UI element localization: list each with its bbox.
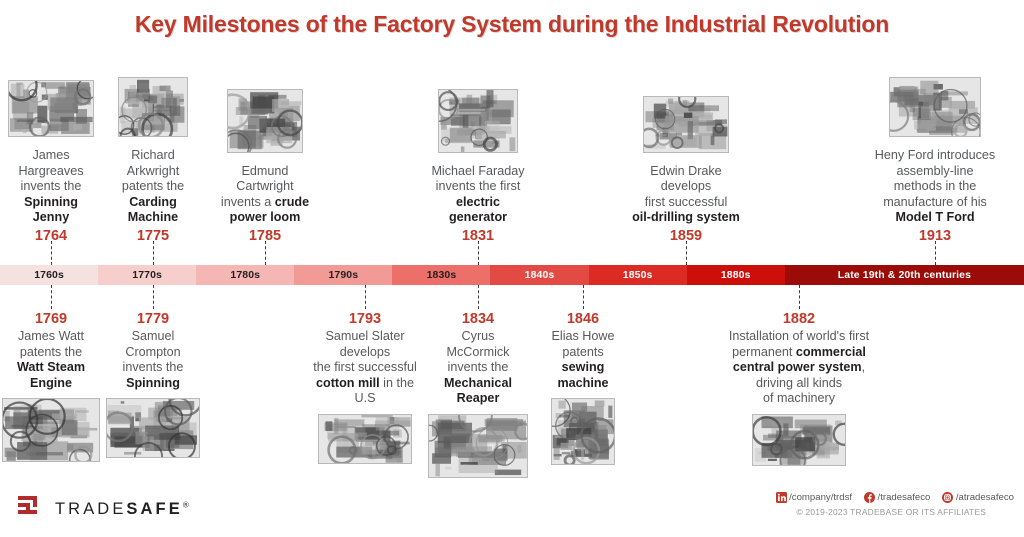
event-year: 1779 — [103, 310, 203, 329]
band-segment-1880s: 1880s — [687, 265, 785, 285]
event-description: Elias Howepatentssewingmachine — [533, 329, 633, 391]
event-line: machine — [533, 376, 633, 392]
connector-stem — [799, 285, 800, 309]
event-top-1775: RichardArkwrightpatents theCardingMachin… — [103, 77, 203, 246]
band-segment-label: 1830s — [427, 269, 457, 281]
event-line: Richard — [103, 148, 203, 164]
event-line: U.S — [291, 391, 439, 407]
event-line: assembly-line — [850, 164, 1020, 180]
event-line: McCormick — [426, 345, 530, 361]
event-line: Engine — [0, 376, 103, 392]
assembly-line-photo — [889, 77, 981, 137]
event-line: Heny Ford introduces — [850, 148, 1020, 164]
event-line: develops — [611, 179, 761, 195]
event-line: Michael Faraday — [410, 164, 546, 180]
event-line: patents the — [0, 345, 103, 361]
event-line: Carding — [103, 195, 203, 211]
event-year: 1793 — [291, 310, 439, 329]
event-top-1764: JamesHargreavesinvents theSpinningJenny1… — [0, 80, 103, 246]
connector-stem — [153, 241, 154, 265]
band-segment-label: Late 19th & 20th centuries — [838, 269, 971, 281]
social-link-instagram[interactable]: /atradesafeco — [942, 492, 1014, 503]
event-bottom-1769: 1769James Wattpatents theWatt SteamEngin… — [0, 309, 103, 467]
event-description: Edwin Drakedevelopsfirst successfuloil-d… — [611, 164, 761, 226]
social-row: /company/trdsf/tradesafeco/atradesafeco — [769, 492, 1014, 503]
band-segment-1840s: 1840s — [490, 265, 588, 285]
event-top-1913: Heny Ford introducesassembly-linemethods… — [850, 77, 1020, 246]
page-title: Key Milestones of the Factory System dur… — [0, 0, 1024, 43]
event-line: invents the — [103, 360, 203, 376]
event-line: driving all kinds — [704, 376, 894, 392]
band-segment-label: 1780s — [230, 269, 260, 281]
connector-stem — [935, 241, 936, 265]
mechanical-reaper-engraving — [428, 414, 528, 478]
social-handle: /atradesafeco — [956, 492, 1014, 503]
event-top-1785: EdmundCartwrightinvents a crudepower loo… — [210, 89, 320, 246]
event-line: cotton mill in the — [291, 376, 439, 392]
facebook-icon — [864, 492, 875, 503]
connector-stem — [265, 241, 266, 265]
connector-stem — [51, 241, 52, 265]
event-description: JamesHargreavesinvents theSpinningJenny — [0, 148, 103, 226]
event-line: invents the first — [410, 179, 546, 195]
logo-registered-mark: ® — [183, 501, 189, 510]
event-line: the first successful — [291, 360, 439, 376]
event-line: central power system, — [704, 360, 894, 376]
power-loom-engraving — [227, 89, 303, 153]
copyright-text: © 2019-2023 TRADEBASE OR ITS AFFILIATES — [769, 507, 1014, 517]
event-line: Model T Ford — [850, 210, 1020, 226]
social-link-linkedin[interactable]: /company/trdsf — [776, 492, 852, 503]
event-line: Samuel Slater — [291, 329, 439, 345]
timeline-canvas: 1760s1770s1780s1790s1830s1840s1850s1880s… — [0, 43, 1024, 503]
event-line: sewing — [533, 360, 633, 376]
event-line: Reaper — [426, 391, 530, 407]
event-line: generator — [410, 210, 546, 226]
band-segment-label: 1760s — [34, 269, 64, 281]
carding-machine-engraving — [118, 77, 188, 137]
event-top-1831: Michael Faradayinvents the firstelectric… — [410, 89, 546, 246]
event-bottom-1846: 1846Elias Howepatentssewingmachine — [533, 309, 633, 470]
logo-word-trade: TRADE — [55, 500, 126, 518]
logo-word-safe: SAFE — [126, 500, 182, 518]
event-description: RichardArkwrightpatents theCardingMachin… — [103, 148, 203, 226]
band-segment-1790s: 1790s — [294, 265, 392, 285]
oil-derrick-photo — [643, 96, 729, 153]
tradesafe-logo-text: TRADESAFE® — [55, 500, 189, 519]
social-links: /company/trdsf/tradesafeco/atradesafeco … — [769, 492, 1014, 517]
event-line: invents a crude — [210, 195, 320, 211]
instagram-icon — [942, 492, 953, 503]
event-line: Edwin Drake — [611, 164, 761, 180]
event-description: SamuelCromptoninvents theSpinning — [103, 329, 203, 391]
event-line: Arkwright — [103, 164, 203, 180]
event-line: Spinning — [0, 195, 103, 211]
event-line: electric — [410, 195, 546, 211]
event-year: 1769 — [0, 310, 103, 329]
event-line: Spinning — [103, 376, 203, 392]
connector-stem — [478, 241, 479, 265]
event-line: oil-drilling system — [611, 210, 761, 226]
event-bottom-1834: 1834CyrusMcCormickinvents theMechanicalR… — [426, 309, 530, 483]
event-year: 1882 — [704, 310, 894, 329]
event-line: Installation of world's first — [704, 329, 894, 345]
connector-stem — [153, 285, 154, 309]
event-bottom-1793: 1793Samuel Slaterdevelopsthe first succe… — [291, 309, 439, 469]
event-line: Elias Howe — [533, 329, 633, 345]
connector-stem — [583, 285, 584, 309]
event-line: of machinery — [704, 391, 894, 407]
event-line: first successful — [611, 195, 761, 211]
event-line: Hargreaves — [0, 164, 103, 180]
event-line: Cyrus — [426, 329, 530, 345]
event-line: power loom — [210, 210, 320, 226]
event-line: Machine — [103, 210, 203, 226]
event-line: methods in the — [850, 179, 1020, 195]
event-year: 1834 — [426, 310, 530, 329]
watt-steam-engine-photo — [2, 398, 100, 462]
event-description: Heny Ford introducesassembly-linemethods… — [850, 148, 1020, 226]
band-segment-1780s: 1780s — [196, 265, 294, 285]
event-line: Watt Steam — [0, 360, 103, 376]
band-segment-label: 1790s — [328, 269, 358, 281]
event-line: James — [0, 148, 103, 164]
event-line: Jenny — [0, 210, 103, 226]
event-top-1859: Edwin Drakedevelopsfirst successfuloil-d… — [611, 96, 761, 246]
event-description: Samuel Slaterdevelopsthe first successfu… — [291, 329, 439, 407]
band-segment-1830s: 1830s — [392, 265, 490, 285]
band-segment-late-19th-20th-centuries: Late 19th & 20th centuries — [785, 265, 1024, 285]
connector-stem — [365, 285, 366, 309]
power-station-photo — [752, 414, 846, 466]
social-link-facebook[interactable]: /tradesafeco — [864, 492, 930, 503]
social-handle: /tradesafeco — [878, 492, 931, 503]
social-handle: /company/trdsf — [789, 492, 852, 503]
band-segment-label: 1880s — [721, 269, 751, 281]
electric-generator-engraving — [438, 89, 518, 153]
event-line: invents the — [0, 179, 103, 195]
tradesafe-logo[interactable]: TRADESAFE® — [18, 495, 189, 524]
linkedin-icon — [776, 492, 787, 503]
event-bottom-1779: 1779SamuelCromptoninvents theSpinning — [103, 309, 203, 463]
event-description: Michael Faradayinvents the firstelectric… — [410, 164, 546, 226]
connector-stem — [686, 241, 687, 265]
event-line: patents — [533, 345, 633, 361]
connector-stem — [478, 285, 479, 309]
event-line: patents the — [103, 179, 203, 195]
cotton-mill-machine-engraving — [318, 414, 412, 464]
spinning-jenny-engraving — [8, 80, 94, 137]
event-bottom-1882: 1882Installation of world's firstpermane… — [704, 309, 894, 471]
band-segment-label: 1770s — [132, 269, 162, 281]
event-line: manufacture of his — [850, 195, 1020, 211]
band-segment-1760s: 1760s — [0, 265, 98, 285]
event-description: James Wattpatents theWatt SteamEngine — [0, 329, 103, 391]
band-segment-1770s: 1770s — [98, 265, 196, 285]
event-line: James Watt — [0, 329, 103, 345]
event-line: invents the — [426, 360, 530, 376]
band-segment-label: 1850s — [623, 269, 653, 281]
event-line: Mechanical — [426, 376, 530, 392]
spinning-mule-engraving — [106, 398, 200, 458]
event-year: 1846 — [533, 310, 633, 329]
tradesafe-logo-mark — [18, 495, 48, 524]
footer: TRADESAFE® /company/trdsf/tradesafeco/at… — [0, 485, 1024, 537]
timeline-band: 1760s1770s1780s1790s1830s1840s1850s1880s… — [0, 265, 1024, 285]
sewing-machine-engraving — [551, 398, 615, 465]
connector-stem — [51, 285, 52, 309]
event-line: permanent commercial — [704, 345, 894, 361]
event-line: Samuel — [103, 329, 203, 345]
event-line: Edmund — [210, 164, 320, 180]
event-line: Crompton — [103, 345, 203, 361]
band-segment-label: 1840s — [525, 269, 555, 281]
event-line: develops — [291, 345, 439, 361]
event-description: EdmundCartwrightinvents a crudepower loo… — [210, 164, 320, 226]
band-segment-1850s: 1850s — [589, 265, 687, 285]
event-line: Cartwright — [210, 179, 320, 195]
event-description: Installation of world's firstpermanent c… — [704, 329, 894, 407]
event-description: CyrusMcCormickinvents theMechanicalReape… — [426, 329, 530, 407]
